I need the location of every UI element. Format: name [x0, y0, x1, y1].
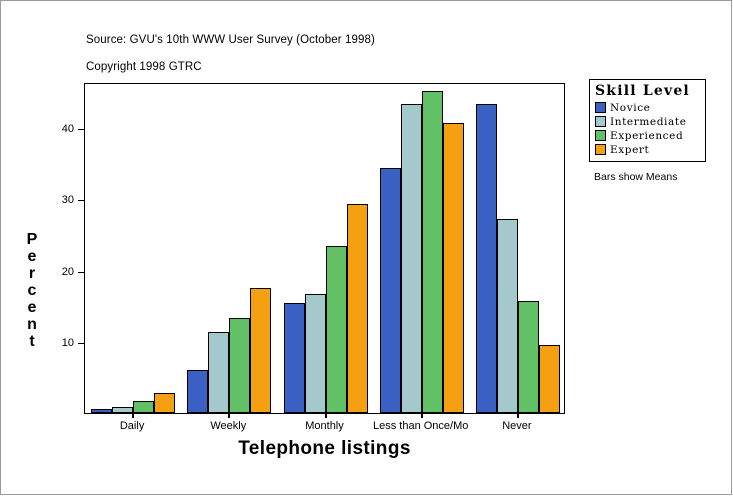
bar-experienced: [326, 246, 347, 413]
y-tick-label: 40: [48, 123, 74, 135]
x-tick-mark: [325, 412, 327, 418]
bar-intermediate: [497, 219, 518, 413]
y-axis-title-text-0: P: [22, 231, 42, 248]
bar-expert: [539, 345, 560, 413]
legend-swatch-icon: [595, 130, 606, 141]
bar-group: [476, 84, 560, 413]
bar-intermediate: [305, 294, 326, 413]
bar-experienced: [133, 401, 154, 413]
x-tick-label: Never: [502, 420, 531, 432]
x-tick-mark: [421, 412, 423, 418]
legend-item-intermediate: Intermediate: [595, 115, 701, 128]
bar-experienced: [518, 301, 539, 413]
plot-area: [84, 83, 565, 414]
y-axis-title-text-2: r: [22, 265, 42, 282]
bar-novice: [91, 409, 112, 413]
bar-expert: [250, 288, 271, 413]
legend-swatch-icon: [595, 116, 606, 127]
legend-label: Experienced: [610, 130, 683, 142]
bar-intermediate: [112, 407, 133, 413]
legend-title: Skill Level: [595, 83, 701, 99]
bar-novice: [380, 168, 401, 413]
bars-show-means-note: Bars show Means: [594, 171, 677, 183]
legend-rows: NoviceIntermediateExperiencedExpert: [595, 101, 701, 156]
bar-intermediate: [208, 332, 229, 413]
x-tick-mark: [517, 412, 519, 418]
bar-experienced: [229, 318, 250, 413]
copyright-note: Copyright 1998 GTRC: [86, 61, 202, 73]
legend-label: Intermediate: [610, 116, 687, 128]
legend-item-expert: Expert: [595, 143, 701, 156]
legend-swatch-icon: [595, 144, 606, 155]
screenshot-frame: Source: GVU's 10th WWW User Survey (Octo…: [0, 0, 732, 495]
legend: Skill Level NoviceIntermediateExperience…: [589, 79, 706, 162]
bars-container: [85, 84, 564, 413]
bar-novice: [187, 370, 208, 413]
x-tick-mark: [228, 412, 230, 418]
y-tick-label: 30: [48, 194, 74, 206]
bar-expert: [347, 204, 368, 413]
x-axis-title: Telephone listings: [84, 438, 565, 460]
source-note: Source: GVU's 10th WWW User Survey (Octo…: [86, 34, 375, 46]
bar-expert: [154, 393, 175, 413]
x-tick-label: Weekly: [210, 420, 246, 432]
legend-item-experienced: Experienced: [595, 129, 701, 142]
bar-novice: [476, 104, 497, 413]
y-axis-title-text-3: c: [22, 282, 42, 299]
y-tick-label: 10: [48, 337, 74, 349]
bar-group: [284, 84, 368, 413]
bar-group: [380, 84, 464, 413]
bar-novice: [284, 303, 305, 413]
legend-label: Novice: [610, 102, 651, 114]
x-tick-label: Daily: [120, 420, 144, 432]
y-axis-title-text-4: e: [22, 299, 42, 316]
legend-swatch-icon: [595, 102, 606, 113]
y-axis-ticks: 10203040: [48, 83, 84, 414]
bar-group: [91, 84, 175, 413]
legend-label: Expert: [610, 144, 649, 156]
x-tick-mark: [132, 412, 134, 418]
bar-expert: [443, 123, 464, 413]
y-axis-title-text-1: e: [22, 248, 42, 265]
x-tick-label: Less than Once/Mo: [373, 420, 468, 432]
y-axis-title-text-6: t: [22, 333, 42, 350]
y-axis-title-text-5: n: [22, 316, 42, 333]
y-axis-title: P e r c e n t: [22, 231, 42, 350]
y-tick-label: 20: [48, 266, 74, 278]
bar-intermediate: [401, 104, 422, 413]
bar-experienced: [422, 91, 443, 413]
legend-item-novice: Novice: [595, 101, 701, 114]
x-tick-label: Monthly: [305, 420, 344, 432]
bar-group: [187, 84, 271, 413]
